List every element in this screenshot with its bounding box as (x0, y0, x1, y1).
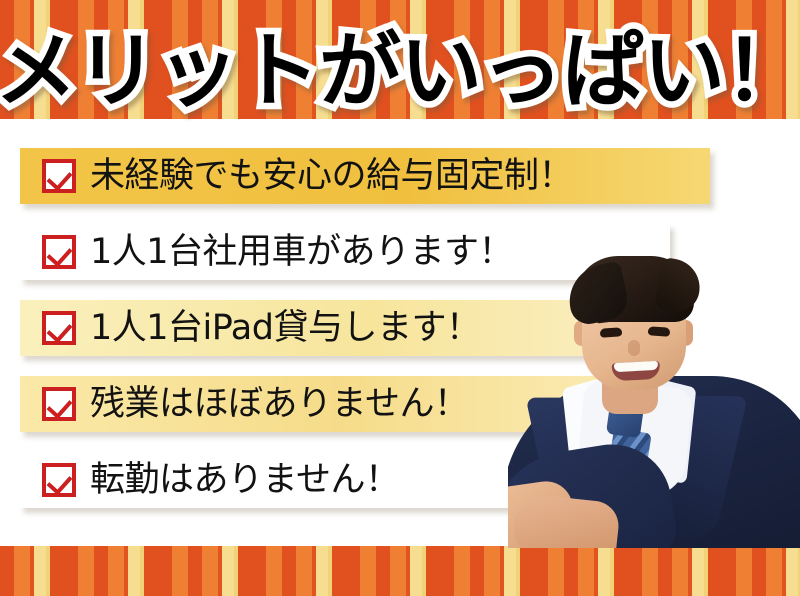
checkbox-checked-icon (42, 235, 76, 269)
checkbox-checked-icon (42, 463, 76, 497)
benefit-text: 1人1台社用車があります！ (90, 235, 513, 270)
checkbox-checked-icon (42, 311, 76, 345)
checkbox-checked-icon (42, 387, 76, 421)
benefit-text: 未経験でも安心の給与固定制！ (90, 159, 573, 194)
checkbox-checked-icon (42, 159, 76, 193)
benefit-row-1: 未経験でも安心の給与固定制！ (20, 148, 710, 204)
eyebrow-right (646, 313, 672, 321)
recruitment-benefits-poster: メリットがいっぱい！ 未経験でも安心の給与固定制！ 1人1台社用車があり (0, 0, 800, 596)
nose (628, 340, 640, 356)
neck (602, 358, 658, 414)
benefit-text: 残業はほぼありません！ (90, 387, 468, 422)
benefit-row-5: 転勤はありません！ (20, 452, 682, 508)
bottom-stripe-band (0, 546, 800, 596)
benefit-row-3: 1人1台iPad貸与します！ (20, 300, 628, 356)
benefit-row-4: 残業はほぼありません！ (20, 376, 600, 432)
benefit-row-2: 1人1台社用車があります！ (20, 224, 670, 280)
eye-right (648, 326, 671, 337)
necktie-knot (606, 402, 644, 438)
benefit-text: 1人1台iPad貸与します！ (90, 311, 480, 346)
mouth (612, 361, 661, 381)
benefit-text: 転勤はありません！ (90, 463, 399, 498)
teeth (614, 361, 658, 372)
ear-right (678, 320, 693, 346)
page-title: メリットがいっぱい！ (0, 31, 800, 113)
headline-container: メリットがいっぱい！ (0, 16, 800, 128)
